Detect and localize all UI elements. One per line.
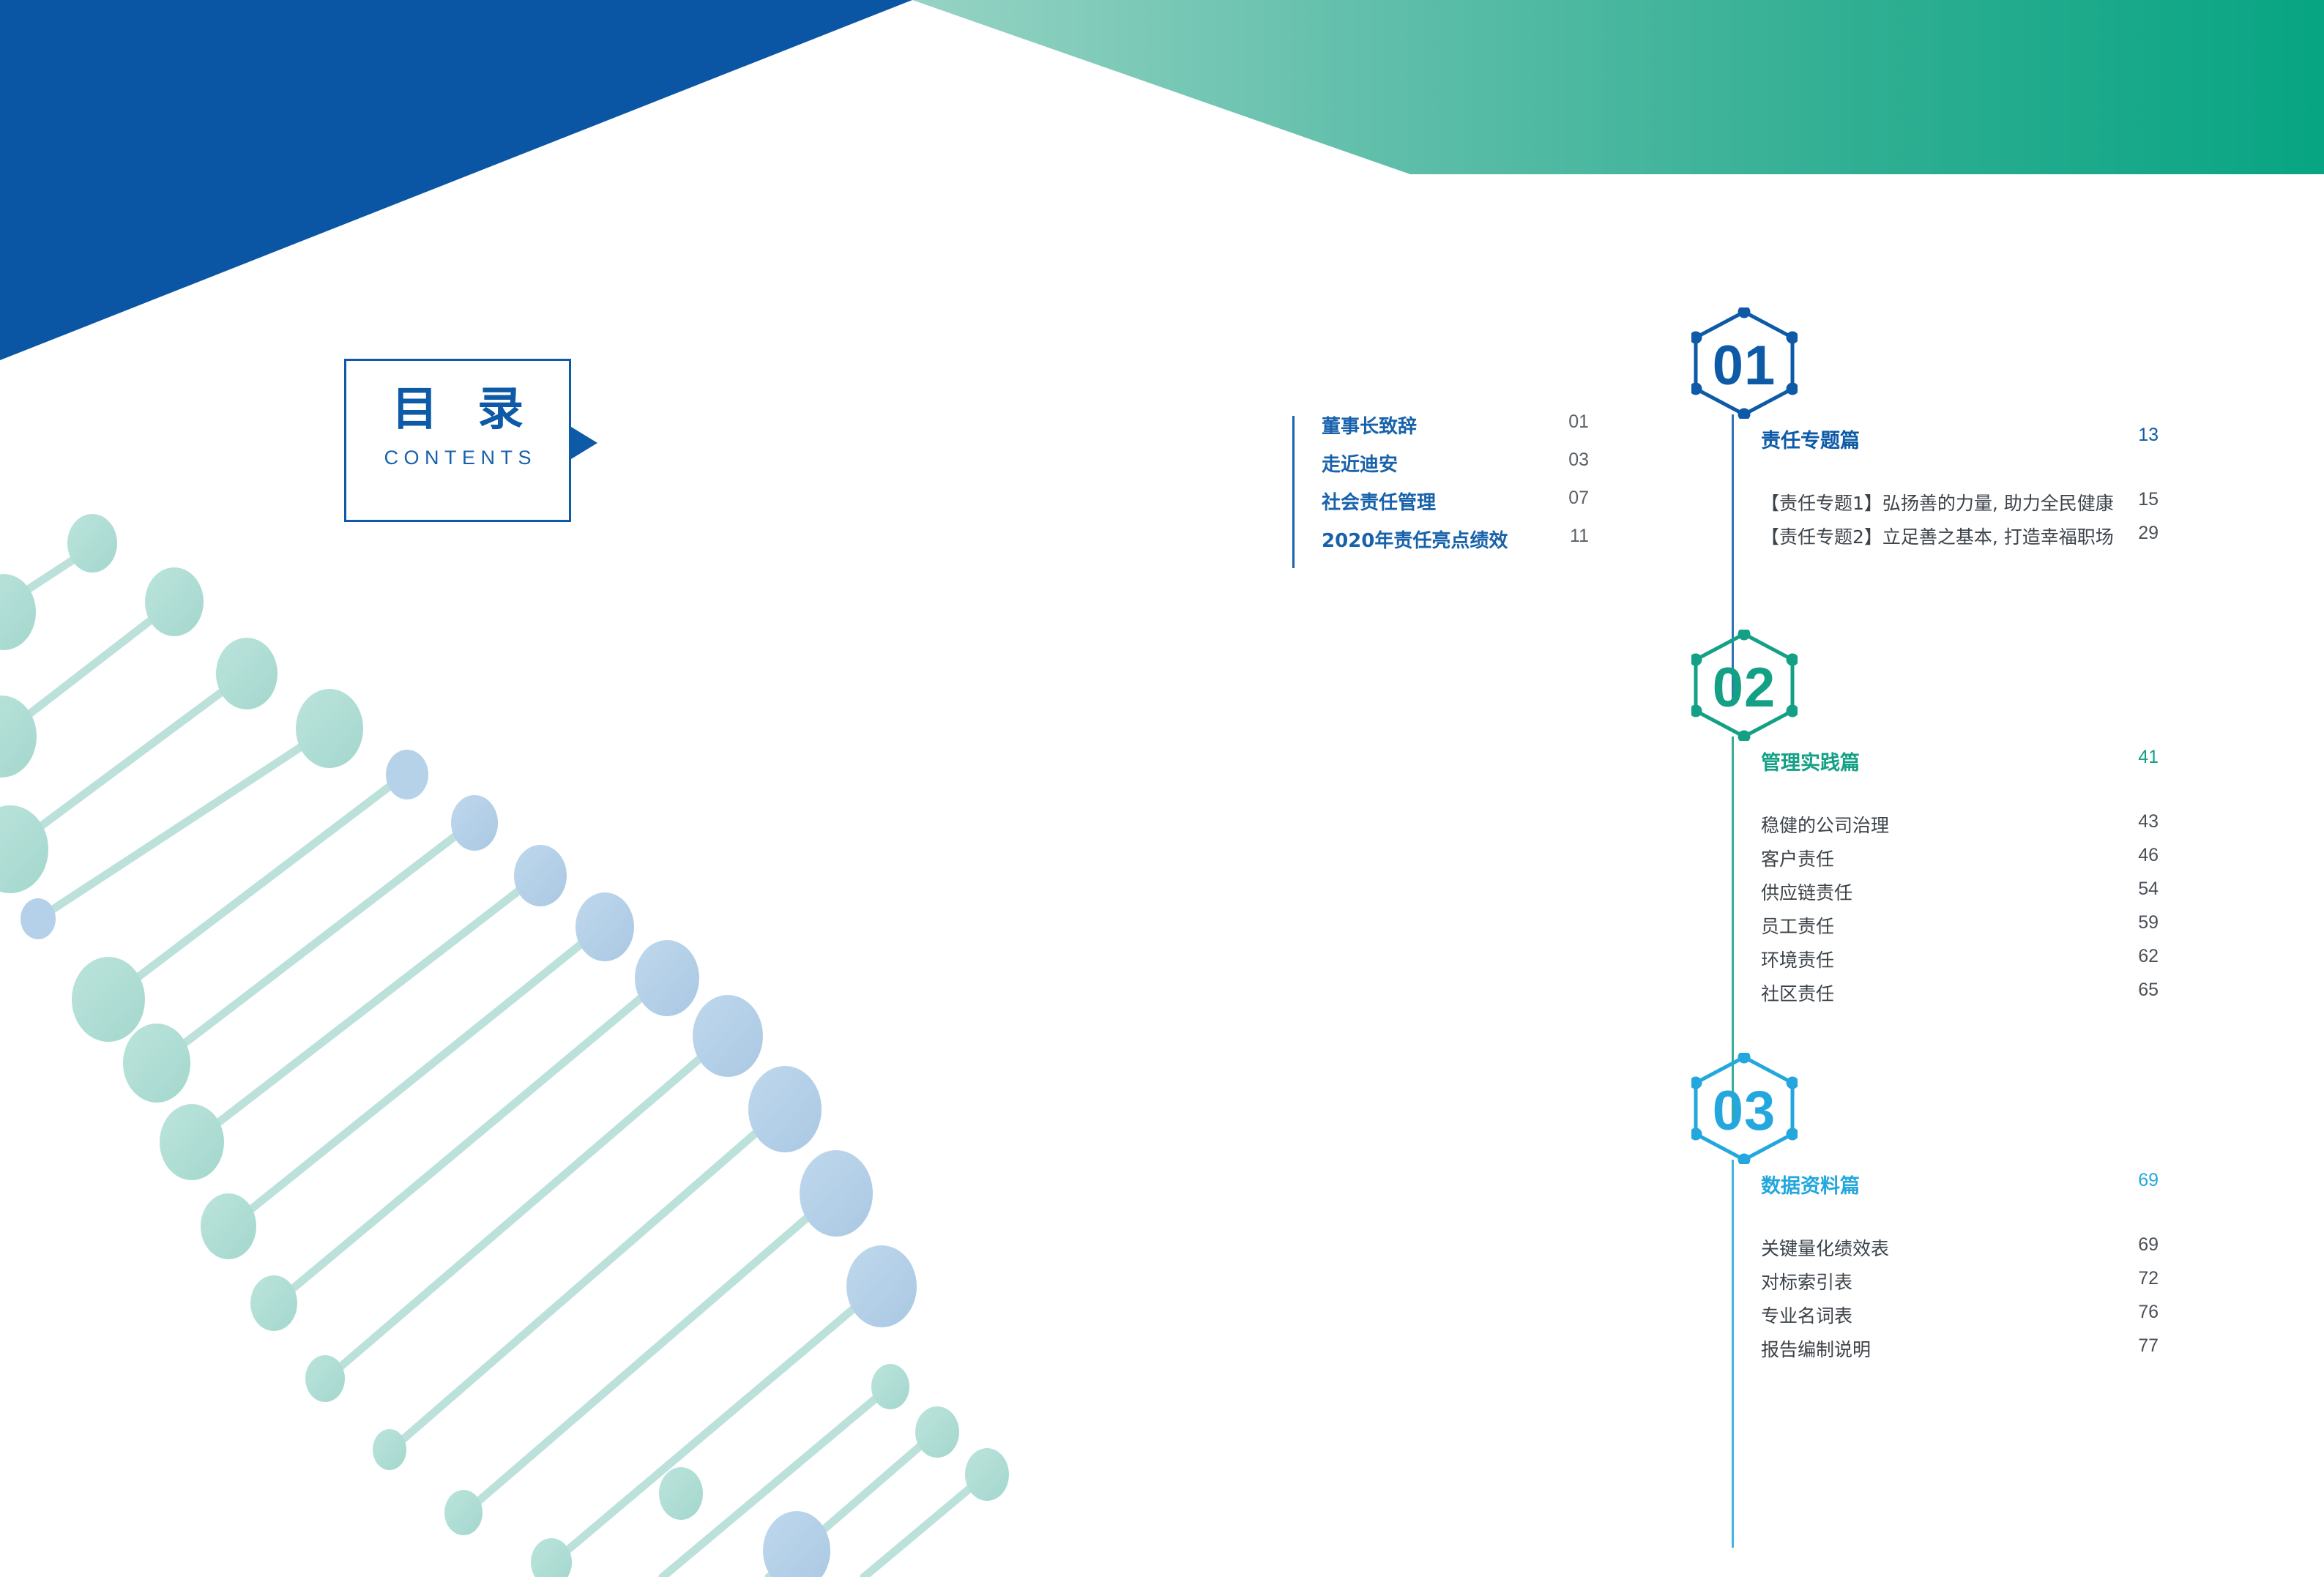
toc-entry[interactable]: 走近迪安03: [1322, 450, 1614, 488]
svg-text:02: 02: [1713, 657, 1776, 719]
page-title: 目 录: [344, 385, 571, 433]
toc-entry-page: 03: [1545, 450, 1589, 471]
svg-text:03: 03: [1713, 1080, 1776, 1142]
section-title: 管理实践篇: [1761, 747, 1860, 775]
toc-entry[interactable]: 环境责任62: [1761, 946, 2211, 980]
arrow-right-icon: [571, 427, 597, 459]
toc-entry[interactable]: 供应链责任54: [1761, 879, 2211, 912]
toc-entry-page: 77: [2107, 1335, 2159, 1357]
toc-entry[interactable]: 报告编制说明77: [1761, 1335, 2211, 1369]
toc-entry-label: 走近迪安: [1322, 450, 1398, 477]
toc-entry[interactable]: 社区责任65: [1761, 980, 2211, 1013]
toc-entry-page: 01: [1545, 411, 1589, 433]
toc-entry-label: 环境责任: [1761, 946, 1834, 972]
toc-entry-page: 76: [2107, 1302, 2159, 1323]
toc-entry-page: 69: [2107, 1234, 2159, 1256]
toc-entry-page: 62: [2107, 946, 2159, 967]
page-subtitle: CONTENTS: [344, 447, 571, 469]
section-page-number: 69: [2107, 1170, 2159, 1191]
toc-entry-label: 稳健的公司治理: [1761, 811, 1889, 838]
toc-entry-label: 专业名词表: [1761, 1302, 1852, 1328]
hexagon-icon: 01: [1691, 307, 1798, 419]
section-item-list: 关键量化绩效表69对标索引表72专业名词表76报告编制说明77: [1761, 1234, 2211, 1369]
section-item-list: 【责任专题1】弘扬善的力量, 助力全民健康15【责任专题2】立足善之基本, 打造…: [1761, 489, 2211, 556]
toc-entry-label: 供应链责任: [1761, 879, 1852, 905]
toc-entry-label: 社区责任: [1761, 980, 1834, 1006]
toc-entry[interactable]: 【责任专题1】弘扬善的力量, 助力全民健康15: [1761, 489, 2211, 523]
toc-entry-page: 29: [2107, 523, 2159, 544]
toc-entry-label: 客户责任: [1761, 845, 1834, 871]
toc-entry-label: 【责任专题2】立足善之基本, 打造幸福职场: [1761, 523, 2114, 549]
toc-entry-label: 2020年责任亮点绩效: [1322, 526, 1508, 553]
toc-entry-label: 社会责任管理: [1322, 488, 1436, 515]
toc-entry-label: 关键量化绩效表: [1761, 1234, 1889, 1261]
section-header[interactable]: 责任专题篇13: [1761, 425, 2211, 453]
toc-entry-page: 15: [2107, 489, 2159, 510]
toc-entry-page: 46: [2107, 845, 2159, 866]
section-page-number: 13: [2107, 425, 2159, 446]
toc-entry-label: 对标索引表: [1761, 1268, 1852, 1294]
section-title: 数据资料篇: [1761, 1170, 1860, 1198]
toc-entry-page: 43: [2107, 811, 2159, 832]
left-toc-rule: [1292, 416, 1295, 568]
section-hexagon-badge: 01: [1691, 307, 1798, 419]
toc-entry[interactable]: 对标索引表72: [1761, 1268, 2211, 1302]
section-hexagon-badge: 03: [1691, 1053, 1798, 1164]
toc-entry[interactable]: 关键量化绩效表69: [1761, 1234, 2211, 1268]
toc-entry-label: 【责任专题1】弘扬善的力量, 助力全民健康: [1761, 489, 2114, 515]
toc-entry[interactable]: 社会责任管理07: [1322, 488, 1614, 526]
hexagon-icon: 03: [1691, 1053, 1798, 1164]
toc-entry[interactable]: 2020年责任亮点绩效11: [1322, 526, 1614, 564]
section-header[interactable]: 管理实践篇41: [1761, 747, 2211, 775]
section-hexagon-badge: 02: [1691, 630, 1798, 741]
toc-entry-page: 72: [2107, 1268, 2159, 1289]
toc-entry[interactable]: 员工责任59: [1761, 912, 2211, 946]
green-gradient-wedge: [805, 0, 2324, 174]
toc-entry[interactable]: 【责任专题2】立足善之基本, 打造幸福职场29: [1761, 523, 2211, 556]
toc-entry-label: 报告编制说明: [1761, 1335, 1871, 1362]
toc-entry[interactable]: 专业名词表76: [1761, 1302, 2211, 1335]
toc-entry-page: 65: [2107, 980, 2159, 1001]
hexagon-icon: 02: [1691, 630, 1798, 741]
dna-helix-decoration: [0, 514, 1009, 1577]
toc-entry-page: 54: [2107, 879, 2159, 900]
toc-entry-page: 11: [1545, 526, 1589, 547]
section-page-number: 41: [2107, 747, 2159, 768]
toc-entry-page: 59: [2107, 912, 2159, 933]
section-title: 责任专题篇: [1761, 425, 1860, 453]
toc-entry[interactable]: 董事长致辞01: [1322, 411, 1614, 450]
left-toc-column: 董事长致辞01走近迪安03社会责任管理072020年责任亮点绩效11: [1292, 411, 1614, 564]
toc-entry-label: 员工责任: [1761, 912, 1834, 939]
blue-corner-triangle: [0, 0, 912, 360]
toc-entry[interactable]: 稳健的公司治理43: [1761, 811, 2211, 845]
section-header[interactable]: 数据资料篇69: [1761, 1170, 2211, 1198]
toc-entry[interactable]: 客户责任46: [1761, 845, 2211, 879]
toc-entry-label: 董事长致辞: [1322, 411, 1417, 439]
svg-text:01: 01: [1713, 335, 1776, 397]
toc-entry-page: 07: [1545, 488, 1589, 509]
section-item-list: 稳健的公司治理43客户责任46供应链责任54员工责任59环境责任62社区责任65: [1761, 811, 2211, 1013]
section-rule: [1732, 1160, 1734, 1548]
